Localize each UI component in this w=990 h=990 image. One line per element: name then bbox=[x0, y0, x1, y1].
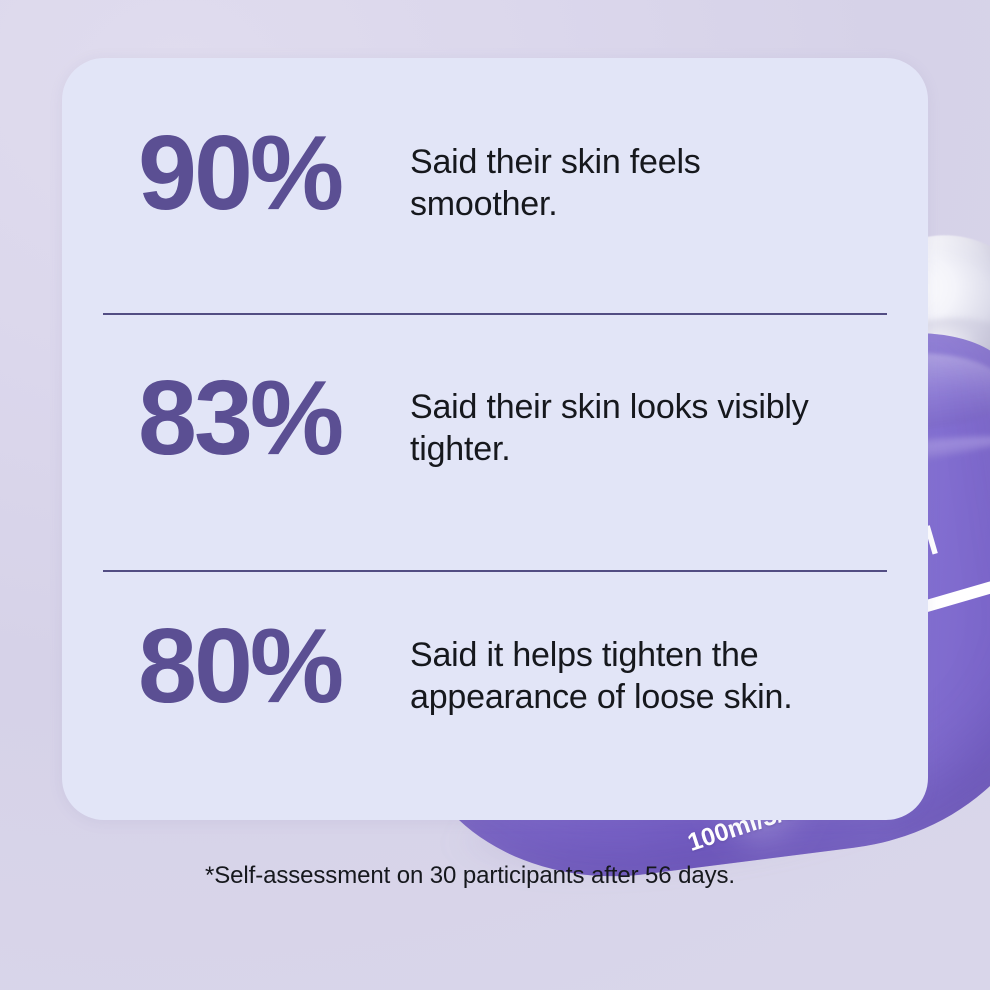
stats-card: 90% Said their skin feels smoother. 83% … bbox=[62, 58, 928, 820]
stat-divider bbox=[103, 570, 887, 572]
stat-description: Said their skin feels smoother. bbox=[410, 120, 840, 226]
stat-row: 80% Said it helps tighten the appearance… bbox=[138, 613, 878, 719]
stat-description: Said it helps tighten the appearance of … bbox=[410, 613, 840, 719]
stat-description: Said their skin looks visibly tighter. bbox=[410, 365, 840, 471]
stat-value: 90% bbox=[138, 120, 410, 226]
stat-value: 80% bbox=[138, 613, 410, 719]
stat-divider bbox=[103, 313, 887, 315]
stat-row: 83% Said their skin looks visibly tighte… bbox=[138, 365, 878, 471]
stat-row: 90% Said their skin feels smoother. bbox=[138, 120, 878, 226]
footnote-text: *Self-assessment on 30 participants afte… bbox=[0, 862, 940, 890]
stat-value: 83% bbox=[138, 365, 410, 471]
promo-image: AM 100ml/3/38 fl.oz. 90% Said their skin… bbox=[0, 0, 990, 990]
stat-list: 90% Said their skin feels smoother. 83% … bbox=[62, 58, 928, 820]
